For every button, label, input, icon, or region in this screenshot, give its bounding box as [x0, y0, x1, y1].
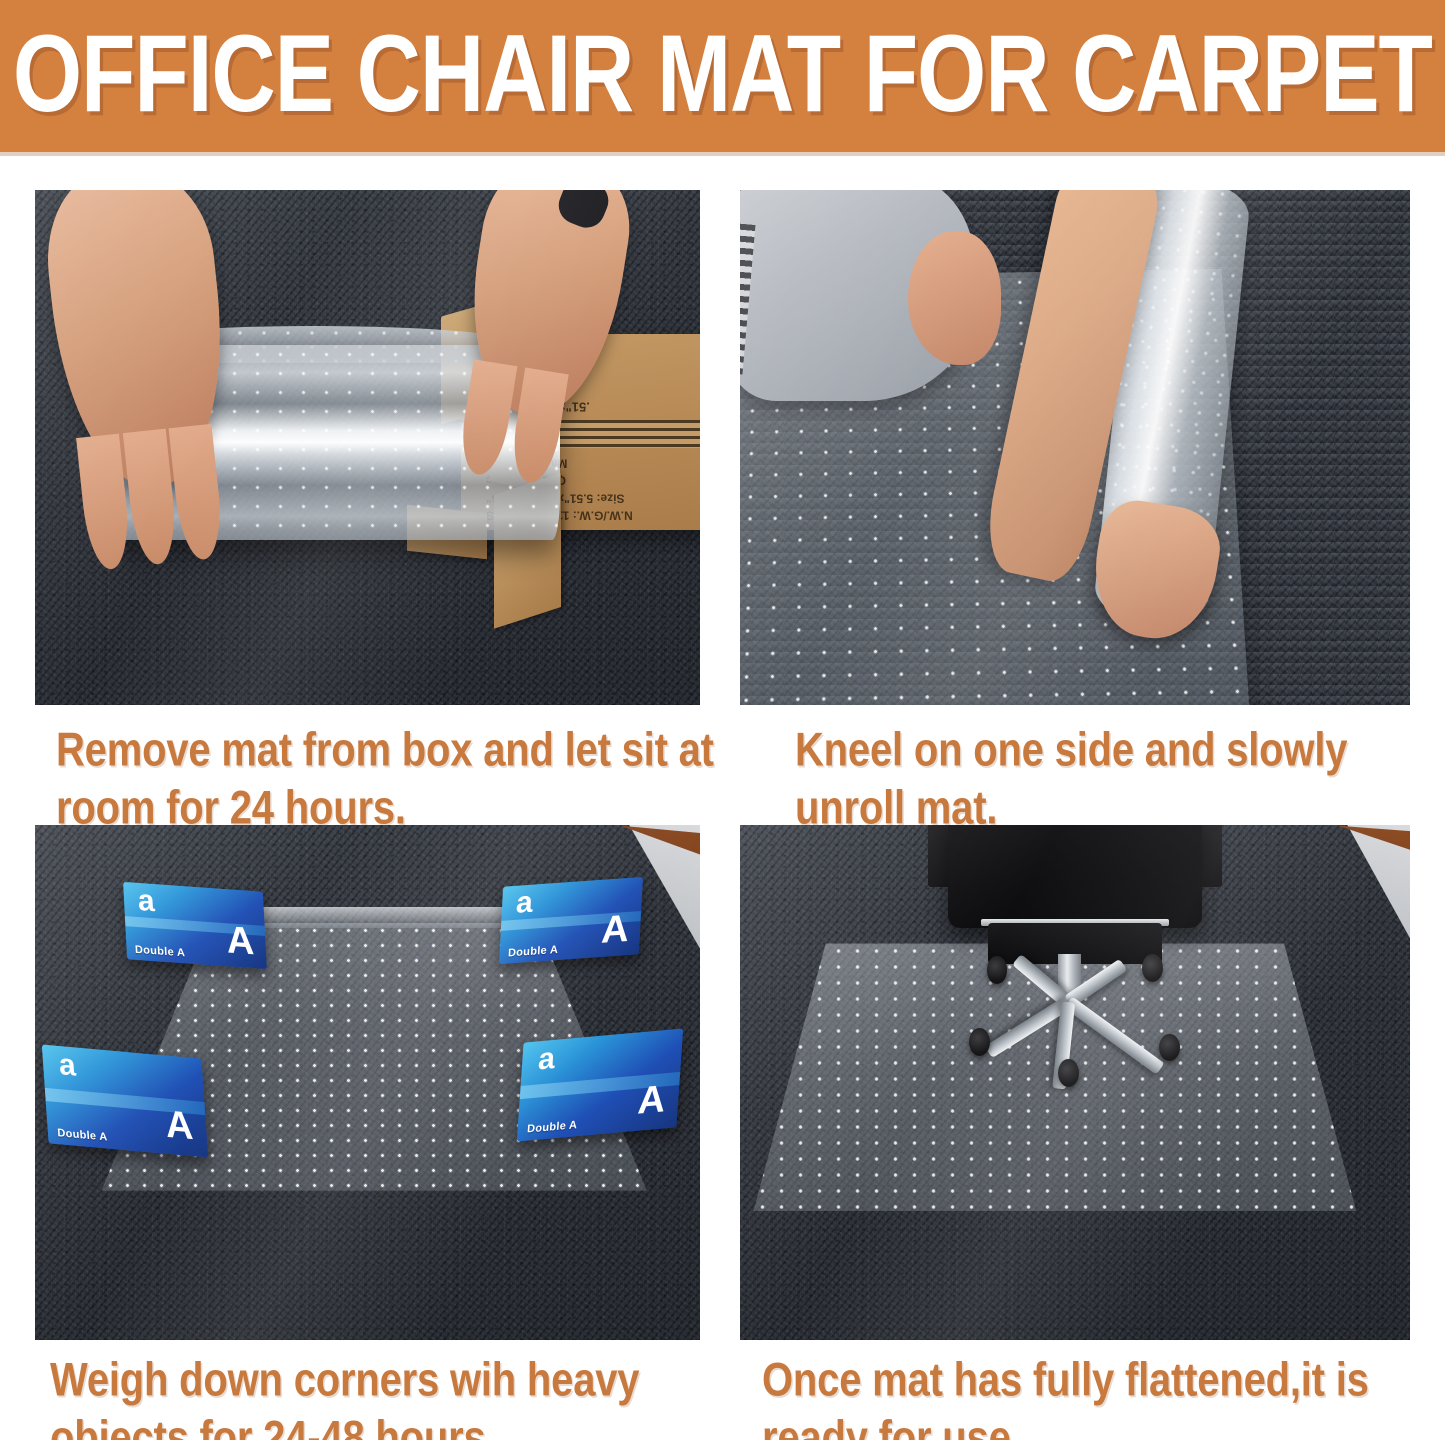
ream-logo-uppercase: A	[165, 1109, 195, 1142]
paper-ream-weight: a A Double A	[42, 1044, 208, 1157]
knee	[908, 231, 1002, 365]
ream-logo-lowercase: a	[514, 886, 580, 929]
paper-ream-weight: a A Double A	[123, 882, 266, 969]
step-4-caption: Once mat has fully flattened,it is ready…	[762, 1352, 1442, 1440]
ream-brand-label: Double A	[507, 944, 558, 960]
photo-kneel-and-unroll	[740, 190, 1410, 705]
chair-seat	[948, 825, 1203, 928]
step-2-caption: Kneel on one side and slowly unroll mat.	[795, 722, 1435, 837]
chair-caster	[1058, 1059, 1079, 1087]
step-3-photo: a A Double A a A Double A a A Double A a…	[35, 825, 700, 1340]
ream-logo-uppercase: A	[637, 1084, 667, 1117]
chair-caster	[969, 1028, 990, 1056]
step-4-photo	[740, 825, 1410, 1340]
infographic-page: OFFICE CHAIR MAT FOR CARPET .51"x5.51"x4…	[0, 0, 1445, 1440]
photo-mat-ready-for-use	[740, 825, 1410, 1340]
chair-caster	[1159, 1034, 1180, 1062]
photo-weigh-down-corners: a A Double A a A Double A a A Double A a…	[35, 825, 700, 1340]
paper-ream-weight: a A Double A	[517, 1029, 683, 1142]
page-title: OFFICE CHAIR MAT FOR CARPET	[13, 19, 1432, 133]
header-banner: OFFICE CHAIR MAT FOR CARPET	[0, 0, 1445, 152]
paper-ream-weight: a A Double A	[499, 877, 642, 964]
ream-logo-lowercase: a	[58, 1051, 135, 1107]
step-1-photo: .51"x5.51"x46.46" 11.02/9.92 LBS ty: 1 p…	[35, 190, 700, 705]
shorts-stripe	[740, 224, 755, 374]
ream-brand-label: Double A	[57, 1127, 108, 1144]
ream-logo-lowercase: a	[536, 1041, 613, 1097]
ream-logo-lowercase: a	[137, 887, 203, 930]
photo-remove-mat-from-box: .51"x5.51"x46.46" 11.02/9.92 LBS ty: 1 p…	[35, 190, 700, 705]
ream-brand-label: Double A	[134, 944, 185, 960]
step-3-caption: Weigh down corners wih heavy objects for…	[50, 1352, 730, 1440]
ream-logo-uppercase: A	[226, 925, 255, 957]
chair-caster	[1142, 954, 1163, 982]
banner-divider	[0, 152, 1445, 156]
step-1-caption: Remove mat from box and let sit at room …	[56, 722, 716, 837]
step-2-photo	[740, 190, 1410, 705]
ream-brand-label: Double A	[527, 1119, 578, 1136]
ream-logo-uppercase: A	[600, 914, 629, 946]
